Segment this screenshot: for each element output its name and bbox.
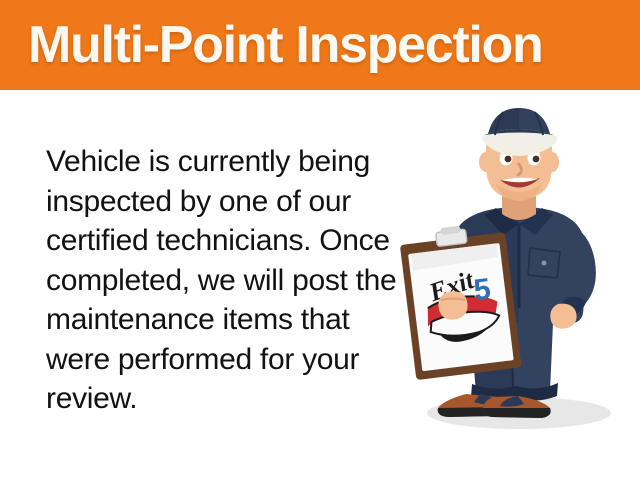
hand-left-icon: [438, 291, 467, 319]
title-banner: Multi-Point Inspection: [0, 0, 640, 90]
mechanic-illustration: Exit 5: [392, 108, 640, 430]
body-paragraph: Vehicle is currently being inspected by …: [46, 142, 406, 419]
page-title: Multi-Point Inspection: [28, 19, 542, 71]
hand-right-icon: [550, 304, 576, 329]
cap-icon: [482, 108, 557, 156]
slide-canvas: Multi-Point Inspection Vehicle is curren…: [0, 0, 640, 480]
chest-pocket-icon: [528, 248, 560, 278]
